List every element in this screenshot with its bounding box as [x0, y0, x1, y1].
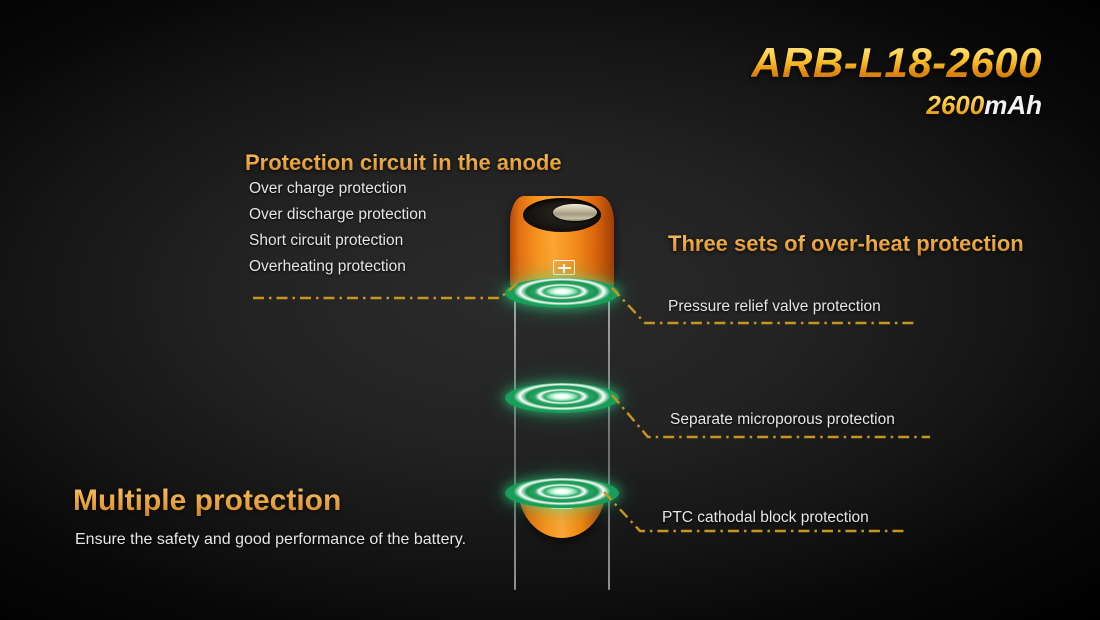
- capacity-number: 2600: [926, 90, 984, 120]
- product-capacity: 2600mAh: [751, 90, 1042, 121]
- battery-body-rail-right: [608, 282, 610, 590]
- list-item: Short circuit protection: [249, 232, 426, 250]
- protection-disc-separate-microporous: [505, 383, 619, 413]
- battery-top-recess: [523, 198, 601, 232]
- capacity-unit: mAh: [984, 90, 1042, 120]
- product-title-block: ARB-L18-2600 2600mAh: [751, 42, 1042, 121]
- callout-label-ptc-cathodal-block: PTC cathodal block protection: [662, 509, 869, 527]
- multiple-protection-heading: Multiple protection: [73, 484, 341, 518]
- protection-disc-ptc-cathodal-block: [505, 478, 619, 508]
- list-item: Overheating protection: [249, 258, 426, 276]
- infographic-canvas: ARB-L18-2600 2600mAh Protection circuit …: [0, 0, 1100, 620]
- anode-heading: Protection circuit in the anode: [245, 150, 562, 176]
- page-title: ARB-L18-2600: [751, 42, 1042, 84]
- battery-illustration: [506, 190, 618, 540]
- overheat-heading: Three sets of over-heat protection: [668, 231, 1024, 257]
- multiple-protection-subtitle: Ensure the safety and good performance o…: [75, 531, 466, 549]
- battery-positive-terminal: [553, 204, 597, 221]
- callout-label-pressure-relief-valve: Pressure relief valve protection: [668, 298, 881, 316]
- positive-polarity-icon: [553, 260, 575, 275]
- list-item: Over discharge protection: [249, 206, 426, 224]
- protection-disc-pressure-relief-valve: [505, 278, 619, 308]
- callout-label-separate-microporous: Separate microporous protection: [670, 411, 895, 429]
- anode-feature-list: Over charge protection Over discharge pr…: [249, 180, 426, 284]
- list-item: Over charge protection: [249, 180, 426, 198]
- battery-body-rail-left: [514, 282, 516, 590]
